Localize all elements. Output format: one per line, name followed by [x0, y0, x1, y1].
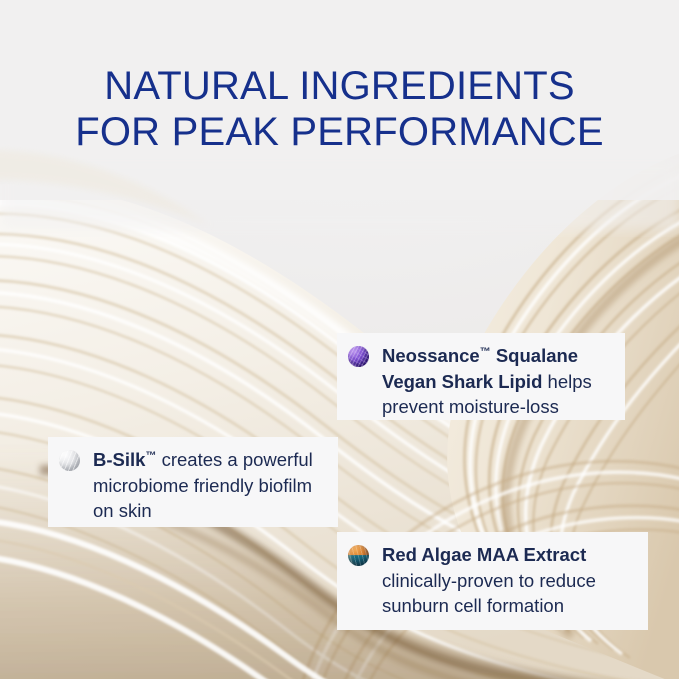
page-title: NATURAL INGREDIENTS FOR PEAK PERFORMANCE — [0, 63, 679, 155]
ingredient-name-bold: Neossance — [382, 345, 480, 366]
neossance-squalane-sphere-icon — [348, 346, 369, 367]
ingredient-callout-text: Red Algae MAA Extract clinically-proven … — [382, 542, 636, 619]
product-ingredients-infographic: NATURAL INGREDIENTS FOR PEAK PERFORMANCE… — [0, 0, 679, 679]
ingredient-name-bold: B-Silk — [93, 449, 145, 470]
ingredient-name-bold: Red Algae MAA Extract — [382, 544, 586, 565]
b-silk-sphere-icon — [59, 450, 80, 471]
ingredient-benefit-text: clinically-proven to reduce sunburn cell… — [382, 570, 596, 617]
red-algae-maa-sphere-icon — [348, 545, 369, 566]
ingredient-callout-text: B-Silk™ creates a powerful microbiome fr… — [93, 447, 326, 524]
ingredient-callout-neossance: Neossance™ Squalane Vegan Shark Lipid he… — [337, 333, 625, 420]
ingredient-callout-bsilk: B-Silk™ creates a powerful microbiome fr… — [48, 437, 338, 527]
trademark-symbol: ™ — [480, 346, 491, 358]
trademark-symbol: ™ — [145, 450, 156, 462]
ingredient-callout-red-algae: Red Algae MAA Extract clinically-proven … — [337, 532, 648, 630]
ingredient-callout-text: Neossance™ Squalane Vegan Shark Lipid he… — [382, 343, 613, 420]
